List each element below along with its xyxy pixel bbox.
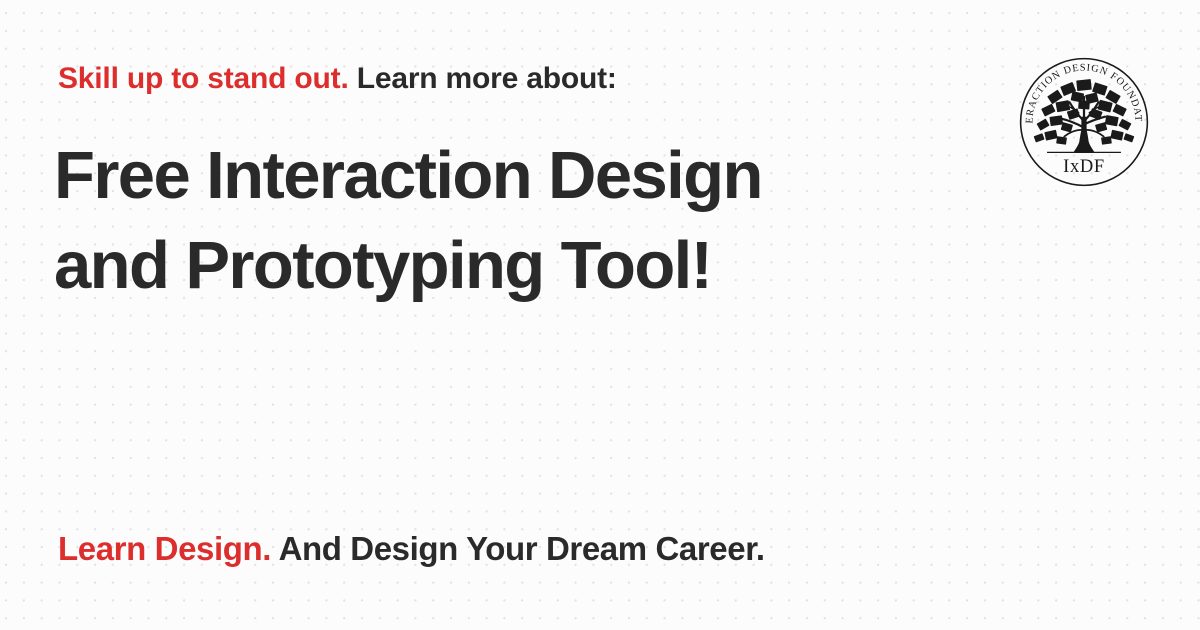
eyebrow-accent: Skill up to stand out. bbox=[58, 62, 349, 95]
logo-wordmark: IxDF bbox=[1063, 156, 1105, 176]
tagline-text: Learn Design. And Design Your Dream Care… bbox=[58, 528, 765, 570]
headline-line-1: Free Interaction Design bbox=[54, 131, 762, 221]
ixdf-logo: INTERACTION DESIGN FOUNDATION bbox=[1018, 56, 1150, 188]
eyebrow-text: Skill up to stand out. Learn more about: bbox=[58, 60, 617, 98]
banner-content: Skill up to stand out. Learn more about:… bbox=[58, 0, 1008, 630]
logo-tree-base bbox=[1073, 142, 1094, 153]
tagline-accent: Learn Design. bbox=[58, 530, 271, 567]
tagline-rest: And Design Your Dream Career. bbox=[271, 530, 765, 567]
eyebrow-rest: Learn more about: bbox=[349, 62, 617, 95]
headline-line-2: and Prototyping Tool! bbox=[54, 221, 762, 311]
promo-banner: Skill up to stand out. Learn more about:… bbox=[0, 0, 1200, 630]
page-title: Free Interaction Design and Prototyping … bbox=[54, 131, 762, 311]
